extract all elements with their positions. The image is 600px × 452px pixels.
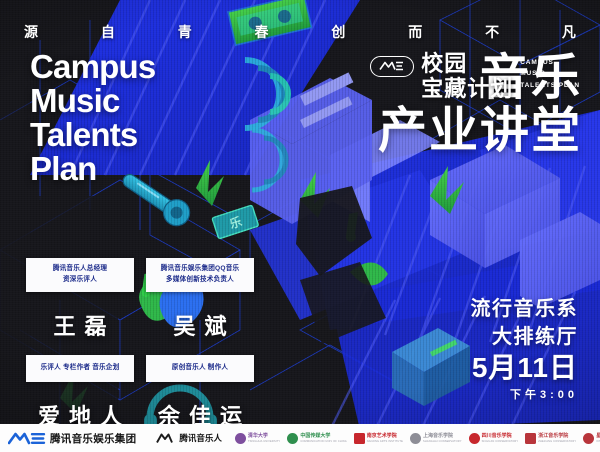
program-badge: 校园 宝藏计划 CAMPUS MUSIC TALENTS PLAN <box>370 52 580 101</box>
tagline-char-1: 自 <box>101 22 115 42</box>
tagline-char-5: 而 <box>408 22 422 42</box>
speaker-title-line: 乐评人 专栏作者 音乐企划 <box>29 363 131 374</box>
tagline-char-2: 青 <box>178 22 192 42</box>
university-subtitle: SICHUAN CONSERVATORY <box>482 440 519 443</box>
speaker-title-card: 原创音乐人 制作人 <box>146 355 254 382</box>
university-seal-icon <box>235 433 246 444</box>
tagline-char-0: 源 <box>24 22 38 42</box>
speaker-title-line: 资深乐评人 <box>29 275 131 286</box>
date-time-info: 5月11日 下午3:00 <box>472 352 578 402</box>
university-item[interactable]: 南京艺术学院 NANJING ARTS INSTITUTE <box>354 433 403 444</box>
badge-cn-line-2: 宝藏计划 <box>421 77 513 102</box>
university-item[interactable]: 上海音乐学院 SHANGHAI CONSERVATORY <box>410 433 462 444</box>
speaker-name: 吴斌 <box>146 300 254 347</box>
speakers-section: 腾讯音乐人总经理 资深乐评人 腾讯音乐娱乐集团QQ音乐 多媒体创新技术负责人 王… <box>26 258 276 437</box>
english-title: Campus Music Talents Plan <box>30 50 155 186</box>
university-subtitle: XINGHAI CONSERVATORY <box>596 440 600 443</box>
english-title-line-1: Campus <box>30 50 155 84</box>
badge-en-line-3: TALENTS PLAN <box>520 80 580 91</box>
university-subtitle: TSINGHUA UNIVERSITY <box>248 440 280 443</box>
university-seal-icon <box>410 433 421 444</box>
tme-name: 腾讯音乐娱乐集团 <box>50 431 136 446</box>
university-item[interactable]: 浙江音乐学院 ZHEJIANG CONSERVATORY <box>525 433 576 444</box>
tagline-char-7: 凡 <box>562 22 576 42</box>
event-time: 下午3:00 <box>472 386 578 402</box>
speaker-title-card: 腾讯音乐人总经理 资深乐评人 <box>26 258 134 292</box>
speaker-title-line: 腾讯音乐人总经理 <box>29 264 131 275</box>
badge-en-text: CAMPUS MUSIC TALENTS PLAN <box>520 57 580 91</box>
university-seal-icon <box>525 433 536 444</box>
university-item[interactable]: 清华大学 TSINGHUA UNIVERSITY <box>235 433 280 444</box>
english-title-line-4: Plan <box>30 152 155 186</box>
university-subtitle: ZHEJIANG CONSERVATORY <box>538 440 576 443</box>
speaker-title-line: 腾讯音乐娱乐集团QQ音乐 <box>149 264 251 275</box>
badge-en-line-1: CAMPUS <box>520 57 580 68</box>
tme-oval-logo-icon <box>370 56 414 77</box>
speaker-name: 王磊 <box>26 300 134 347</box>
university-subtitle: COMMUNICATION UNIV OF CHINA <box>300 440 346 443</box>
english-title-line-2: Music <box>30 84 155 118</box>
badge-cn-line-1: 校园 <box>421 52 513 77</box>
university-subtitle: NANJING ARTS INSTITUTE <box>367 440 403 443</box>
english-title-line-3: Talents <box>30 118 155 152</box>
tagline-char-3: 春 <box>255 22 269 42</box>
speaker-title-card: 腾讯音乐娱乐集团QQ音乐 多媒体创新技术负责人 <box>146 258 254 292</box>
university-item[interactable]: 星海音乐学院 XINGHAI CONSERVATORY <box>583 433 600 444</box>
tencent-musician-brand[interactable]: 腾讯音乐人 <box>156 432 222 444</box>
speaker-title-card: 乐评人 专栏作者 音乐企划 <box>26 355 134 382</box>
speaker-title-line: 多媒体创新技术负责人 <box>149 275 251 286</box>
university-item[interactable]: 四川音乐学院 SICHUAN CONSERVATORY <box>469 433 519 444</box>
venue-line-2: 大排练厅 <box>471 324 579 352</box>
venue-line-1: 流行音乐系 <box>471 296 579 324</box>
tencent-musician-name: 腾讯音乐人 <box>179 432 222 444</box>
badge-en-line-2: MUSIC <box>520 68 580 79</box>
tencent-musician-logo-icon <box>156 433 176 444</box>
tme-logo-icon <box>8 432 46 445</box>
tagline-char-4: 创 <box>331 22 345 42</box>
poster-canvas: 乐 源 自 青 春 创 而 不 凡 Campus Music Talents P… <box>0 0 600 452</box>
university-logos: 清华大学 TSINGHUA UNIVERSITY 中国传媒大学 COMMUNIC… <box>235 433 600 444</box>
university-seal-icon <box>354 433 365 444</box>
tagline: 源 自 青 春 创 而 不 凡 <box>24 22 576 42</box>
speaker-title-row-1: 腾讯音乐人总经理 资深乐评人 腾讯音乐娱乐集团QQ音乐 多媒体创新技术负责人 王… <box>26 258 276 347</box>
university-seal-icon <box>469 433 480 444</box>
university-name: 星海音乐学院 <box>596 433 600 439</box>
sponsor-footer: 腾讯音乐娱乐集团 腾讯音乐人 清华大学 TSINGHUA UNIVERSITY … <box>0 424 600 452</box>
speaker-title-line: 原创音乐人 制作人 <box>149 363 251 374</box>
venue-info: 流行音乐系 大排练厅 <box>471 296 579 351</box>
university-subtitle: SHANGHAI CONSERVATORY <box>423 440 462 443</box>
event-date: 5月11日 <box>472 352 578 384</box>
chinese-title-line-2: 产业讲堂 <box>378 105 582 158</box>
tagline-char-6: 不 <box>485 22 499 42</box>
university-item[interactable]: 中国传媒大学 COMMUNICATION UNIV OF CHINA <box>287 433 346 444</box>
university-seal-icon <box>287 433 298 444</box>
tme-brand[interactable]: 腾讯音乐娱乐集团 <box>8 431 136 446</box>
university-seal-icon <box>583 433 594 444</box>
